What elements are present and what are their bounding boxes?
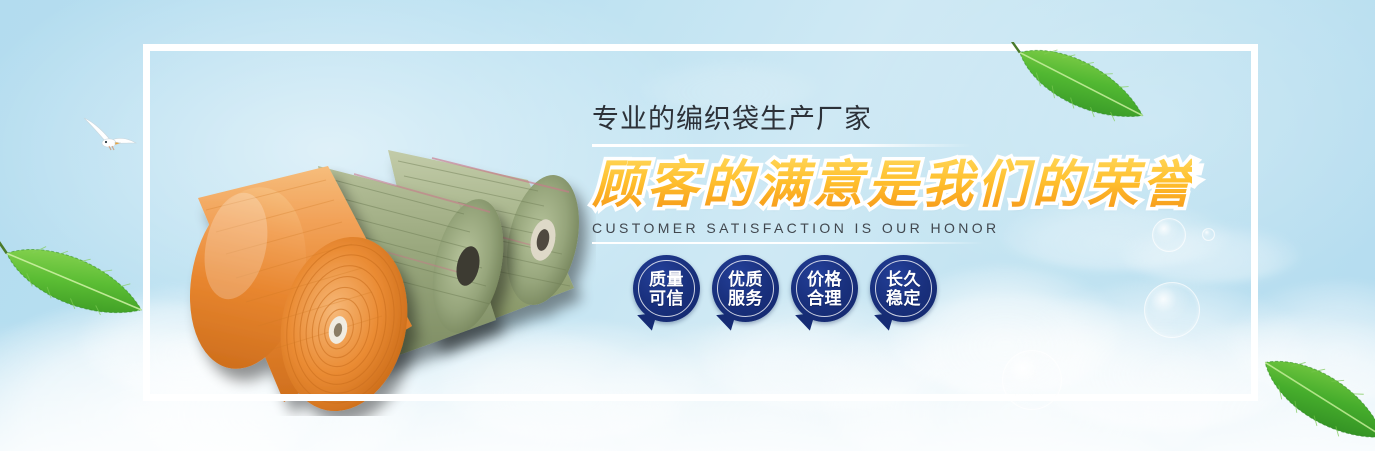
text-block: 专业的编织袋生产厂家 顾客的满意是我们的荣誉 顾客的满意是我们的荣誉 CUSTO… — [592, 104, 1192, 244]
badge-quality-trust[interactable]: 质量 可信 — [633, 255, 700, 322]
bubble-low-left — [1002, 350, 1062, 410]
headline-chinese: 专业的编织袋生产厂家 — [592, 104, 1192, 135]
hero-slogan-chinese: 顾客的满意是我们的荣誉 — [592, 155, 1192, 217]
badge-line-1: 优质 — [728, 270, 763, 289]
badge-line-1: 质量 — [649, 270, 684, 289]
subtitle-english: CUSTOMER SATISFACTION IS OUR HONOR — [592, 220, 1192, 236]
leaf-bottom-right-icon — [1248, 352, 1375, 448]
badge-line-2: 稳定 — [886, 289, 921, 308]
badge-label: 质量 可信 — [633, 255, 700, 322]
badge-quality-service[interactable]: 优质 服务 — [712, 255, 779, 322]
badge-line-1: 价格 — [807, 270, 842, 289]
subtitle-divider — [592, 242, 984, 244]
badge-label: 优质 服务 — [712, 255, 779, 322]
hero-slogan-wrap: 顾客的满意是我们的荣誉 顾客的满意是我们的荣誉 — [592, 155, 1192, 217]
feature-badges: 质量 可信 优质 服务 价格 合理 — [633, 255, 937, 322]
badge-line-2: 合理 — [807, 289, 842, 308]
badge-long-stability[interactable]: 长久 稳定 — [870, 255, 937, 322]
leaf-left-icon — [0, 238, 152, 330]
woven-fabric-rolls — [176, 128, 596, 416]
badge-label: 长久 稳定 — [870, 255, 937, 322]
badge-line-2: 服务 — [728, 289, 763, 308]
seagull-icon — [78, 112, 142, 158]
promo-banner: 专业的编织袋生产厂家 顾客的满意是我们的荣誉 顾客的满意是我们的荣誉 CUSTO… — [0, 0, 1375, 451]
badge-line-2: 可信 — [649, 289, 684, 308]
badge-label: 价格 合理 — [791, 255, 858, 322]
headline-divider — [592, 144, 972, 147]
badge-line-1: 长久 — [886, 270, 921, 289]
badge-fair-price[interactable]: 价格 合理 — [791, 255, 858, 322]
bubble-large — [1144, 282, 1200, 338]
